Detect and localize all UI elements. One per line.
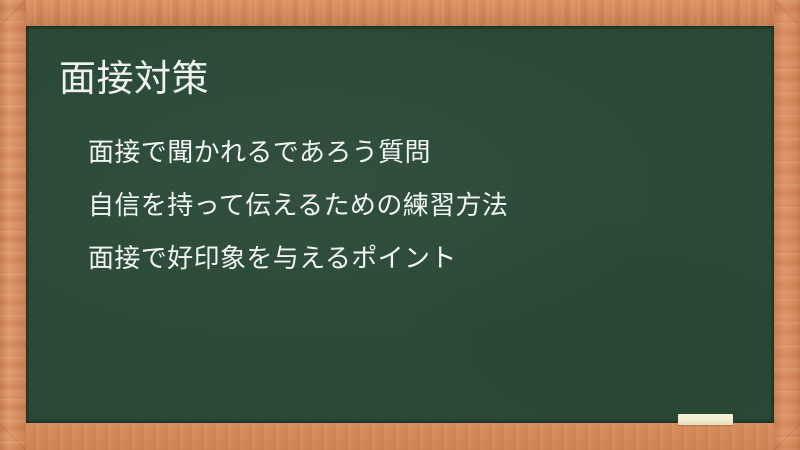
slide-bullet-list: 面接で聞かれるであろう質問 自信を持って伝えるための練習方法 面接で好印象を与え… (88, 127, 508, 286)
chalkboard-surface: 面接対策 面接で聞かれるであろう質問 自信を持って伝えるための練習方法 面接で好… (26, 26, 774, 423)
bullet-item: 自信を持って伝えるための練習方法 (88, 180, 508, 233)
frame-rail-bottom (0, 423, 800, 450)
frame-rail-top (0, 0, 800, 26)
chalk-stick-icon (678, 414, 733, 425)
chalkboard-slide: 面接対策 面接で聞かれるであろう質問 自信を持って伝えるための練習方法 面接で好… (0, 0, 800, 450)
frame-rail-left (0, 0, 26, 450)
frame-rail-right (774, 0, 800, 450)
bullet-item: 面接で好印象を与えるポイント (88, 233, 508, 286)
bullet-item: 面接で聞かれるであろう質問 (88, 127, 508, 180)
slide-title: 面接対策 (59, 58, 209, 101)
